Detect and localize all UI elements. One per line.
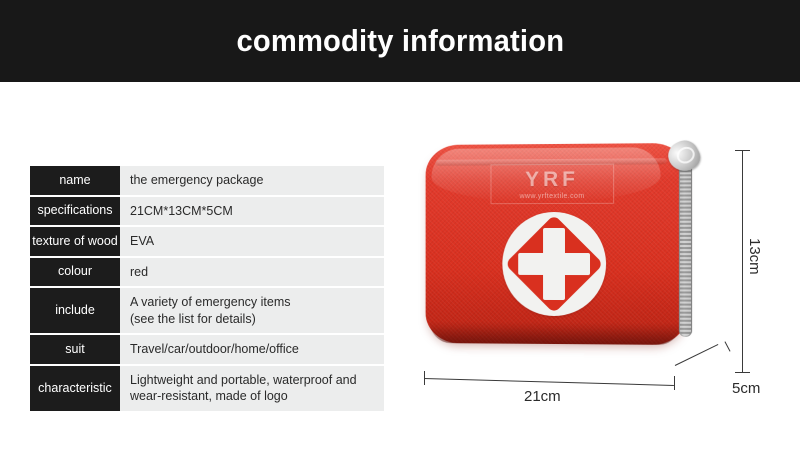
page-title: commodity information	[236, 23, 564, 59]
row-value-colour: red	[120, 257, 384, 288]
watermark-url-text: www.yrftextile.com	[520, 192, 585, 199]
row-value-include: A variety of emergency items (see the li…	[120, 287, 384, 334]
depth-dimension-tick	[724, 341, 730, 351]
product-image: YRF www.yrftextile.com 21cm 5cm 13cm	[398, 92, 800, 452]
zipper-track	[679, 159, 692, 337]
row-value-characteristic: Lightweight and portable, waterproof and…	[120, 365, 384, 411]
table-row: characteristic Lightweight and portable,…	[30, 365, 384, 411]
row-value-specifications: 21CM*13CM*5CM	[120, 196, 384, 227]
row-value-line-secondary: (see the list for details)	[130, 311, 384, 328]
row-value-line: red	[130, 265, 148, 279]
width-dimension-label: 21cm	[524, 388, 561, 405]
row-label-suit: suit	[30, 334, 120, 365]
width-dimension-tick-right	[674, 376, 675, 390]
row-value-line: A variety of emergency items	[130, 295, 290, 309]
depth-dimension-label: 5cm	[732, 380, 760, 397]
row-value-name: the emergency package	[120, 166, 384, 196]
case-bottom-shadow	[430, 321, 681, 345]
brand-watermark: YRF www.yrftextile.com	[490, 164, 614, 205]
row-label-name: name	[30, 166, 120, 196]
table-row: texture of wood EVA	[30, 226, 384, 257]
row-value-texture-of-wood: EVA	[120, 226, 384, 257]
table-row: name the emergency package	[30, 166, 384, 196]
specification-table: name the emergency package specification…	[30, 166, 384, 411]
row-label-texture-of-wood: texture of wood	[30, 226, 120, 257]
row-label-include: include	[30, 287, 120, 334]
row-value-line: Lightweight and portable, waterproof and	[130, 373, 357, 387]
watermark-brand-text: YRF	[525, 168, 579, 189]
row-value-line: the emergency package	[130, 173, 263, 187]
emergency-case-body: YRF www.yrftextile.com	[426, 143, 687, 345]
height-dimension-tick-bottom	[735, 372, 750, 373]
row-label-colour: colour	[30, 257, 120, 288]
depth-dimension-line	[675, 344, 719, 366]
table-row: specifications 21CM*13CM*5CM	[30, 196, 384, 227]
height-dimension-label: 13cm	[746, 238, 763, 275]
table-row: include A variety of emergency items (se…	[30, 287, 384, 334]
specification-table-body: name the emergency package specification…	[30, 166, 384, 411]
row-value-line: EVA	[130, 234, 154, 248]
table-row: colour red	[30, 257, 384, 288]
height-dimension-line	[742, 150, 743, 372]
zipper-pull-icon	[663, 136, 704, 177]
header-banner: commodity information	[0, 0, 800, 82]
height-dimension-tick-top	[735, 150, 750, 151]
medical-cross-logo	[502, 212, 606, 316]
zipper-teeth	[680, 160, 691, 336]
row-value-line: Travel/car/outdoor/home/office	[130, 342, 299, 356]
table-row: suit Travel/car/outdoor/home/office	[30, 334, 384, 365]
row-label-specifications: specifications	[30, 196, 120, 227]
row-label-characteristic: characteristic	[30, 365, 120, 411]
width-dimension-tick-left	[424, 371, 425, 385]
row-value-line-secondary: wear-resistant, made of logo	[130, 388, 384, 405]
logo-cross-horizontal	[518, 253, 590, 275]
row-value-suit: Travel/car/outdoor/home/office	[120, 334, 384, 365]
width-dimension-line	[424, 378, 674, 386]
row-value-line: 21CM*13CM*5CM	[130, 204, 233, 218]
